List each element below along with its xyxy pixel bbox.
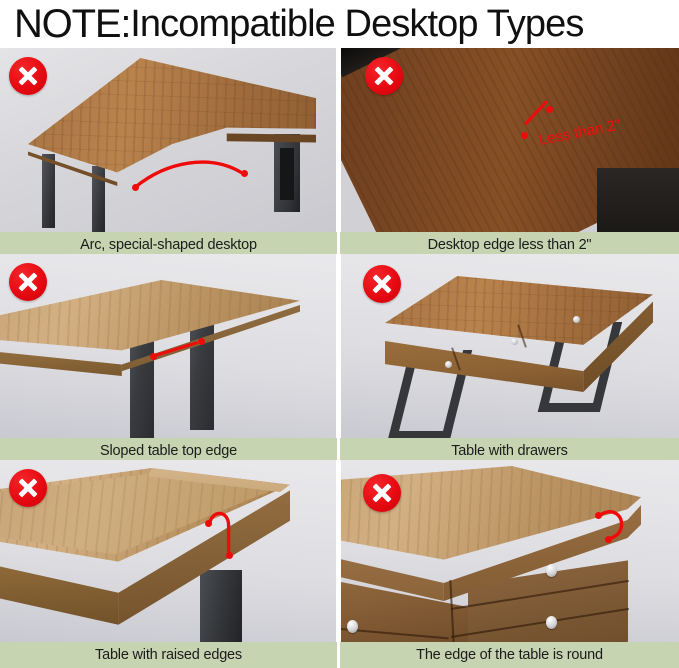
arc-annotation [0, 48, 336, 231]
annotation-endpoint-dot [150, 353, 157, 360]
annotation-endpoint-dot [521, 132, 528, 139]
annotation-endpoint-dot [226, 552, 233, 559]
panel-caption: Desktop edge less than 2" [340, 232, 679, 254]
panel-caption: Sloped table top edge [0, 438, 337, 460]
panel-arc-desktop: Arc, special-shaped desktop [0, 48, 338, 254]
table-leg [130, 332, 154, 438]
panel-grid: Arc, special-shaped desktop [0, 48, 679, 668]
x-mark-icon [9, 263, 47, 301]
panel-thin-edge-image: Less than 2" [341, 48, 679, 232]
lower-shelf [597, 168, 679, 232]
panel-raised-edges: Table with raised edges [0, 460, 338, 668]
x-mark-icon [9, 57, 47, 95]
panel-thin-edge: Less than 2" Desktop edge less than 2" [338, 48, 679, 254]
x-mark-icon [9, 469, 47, 507]
panel-arc-desktop-image [0, 48, 336, 232]
panel-sloped-edge-image [0, 254, 336, 438]
annotation-endpoint-dot [241, 170, 248, 177]
annotation-endpoint-dot [546, 106, 553, 113]
page-title: NOTE:Incompatible Desktop Types [0, 0, 679, 48]
panel-round-edge: The edge of the table is round [338, 460, 679, 668]
panel-round-edge-image [341, 460, 679, 642]
panel-caption: Table with drawers [340, 438, 679, 460]
annotation-endpoint-dot [595, 512, 602, 519]
x-mark-icon [363, 265, 401, 303]
x-mark-icon [365, 57, 403, 95]
annotation-endpoint-dot [198, 338, 205, 345]
panel-table-drawers: Table with drawers [338, 254, 679, 460]
infographic-page: NOTE:Incompatible Desktop Types [0, 0, 679, 668]
annotation-endpoint-dot [132, 184, 139, 191]
title-main-text: Incompatible Desktop Types [130, 5, 583, 43]
panel-raised-edges-image [0, 460, 336, 642]
raised-edge-annotation [0, 460, 336, 641]
drawer-knob [511, 338, 518, 345]
drawer-knob [445, 361, 452, 368]
title-note-prefix: NOTE: [14, 4, 130, 44]
panel-caption: Table with raised edges [0, 642, 337, 668]
panel-sloped-edge: Sloped table top edge [0, 254, 338, 460]
panel-caption: Arc, special-shaped desktop [0, 232, 337, 254]
annotation-endpoint-dot [205, 520, 212, 527]
drawer-knob [573, 316, 580, 323]
panel-table-drawers-image [341, 254, 679, 438]
x-mark-icon [363, 474, 401, 512]
annotation-endpoint-dot [605, 536, 612, 543]
panel-caption: The edge of the table is round [340, 642, 679, 668]
